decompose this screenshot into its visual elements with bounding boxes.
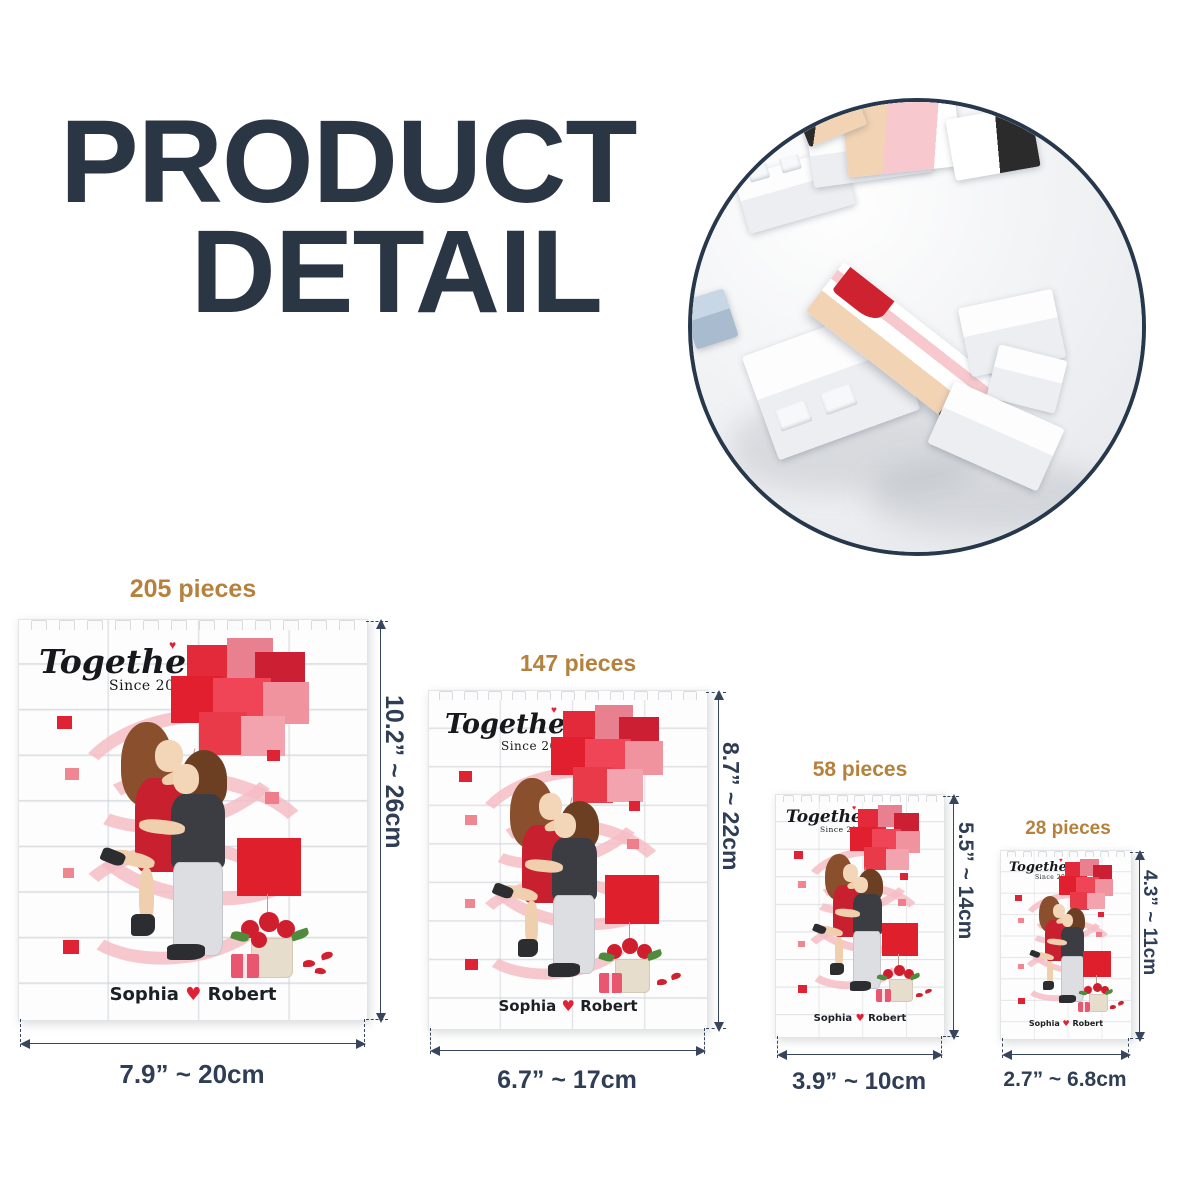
- mini-heart-icon: [627, 839, 639, 849]
- personalized-names: Sophia ♥ Robert: [429, 997, 707, 1015]
- product-panel: Together ♥ Since 2023: [1000, 850, 1132, 1040]
- mini-heart-icon: [63, 940, 79, 954]
- man-shoe: [548, 963, 580, 977]
- rose-petal: [1110, 1005, 1116, 1009]
- names-heart-icon: ♥: [856, 1013, 865, 1024]
- mini-heart-icon: [629, 801, 640, 811]
- mini-heart-icon: [267, 750, 280, 761]
- mini-heart-icon: [465, 899, 475, 908]
- mini-heart-icon: [1015, 895, 1022, 901]
- mini-heart-icon: [898, 899, 906, 906]
- rose-petal: [916, 993, 923, 997]
- size-option-147: 147 pieces Together ♥ Since 2023: [428, 650, 728, 1140]
- product-detail-page: PRODUCT DETAIL: [0, 0, 1200, 1200]
- rose: [259, 912, 279, 932]
- closeup-photo-content: [692, 102, 1142, 552]
- page-title-line-2: DETAIL: [60, 218, 680, 328]
- photo-shadow: [872, 462, 1102, 532]
- large-heart-balloon: [882, 923, 918, 956]
- personalized-names: Sophia ♥ Robert: [1001, 1019, 1131, 1028]
- gift-box: [876, 989, 891, 1002]
- man-jeans: [173, 862, 223, 956]
- mini-heart-icon: [459, 771, 472, 782]
- woman-shoe: [518, 939, 538, 957]
- width-dimension-text: 6.7” ~ 17cm: [428, 1066, 706, 1095]
- large-heart-balloon: [237, 838, 301, 896]
- flower-vase: [1089, 994, 1108, 1012]
- mini-heart-icon: [265, 792, 279, 804]
- mini-heart-icon: [1096, 932, 1102, 937]
- rose-petal: [303, 960, 315, 967]
- height-dimension-text: 5.5” ~ 14cm: [953, 822, 977, 939]
- height-dimension-text: 8.7” ~ 22cm: [717, 742, 744, 871]
- flower-vase: [889, 979, 913, 1002]
- name-right: Robert: [580, 997, 637, 1015]
- name-left: Sophia: [110, 984, 179, 1005]
- personalized-names: Sophia ♥ Robert: [19, 984, 367, 1005]
- product-detail-closeup-photo: [688, 98, 1146, 556]
- mini-heart-icon: [465, 959, 478, 970]
- pieces-count-label: 58 pieces: [765, 758, 955, 782]
- name-right: Robert: [1073, 1019, 1104, 1028]
- personalized-names: Sophia ♥ Robert: [776, 1013, 944, 1024]
- mini-heart-icon: [1018, 964, 1024, 969]
- gift-box: [599, 973, 622, 993]
- page-title: PRODUCT DETAIL: [60, 108, 680, 327]
- woman-shoe: [131, 914, 155, 936]
- couple-illustration: [115, 716, 255, 966]
- pieces-count-label: 147 pieces: [428, 650, 728, 677]
- mini-heart-icon: [65, 768, 79, 780]
- man-face: [173, 764, 199, 794]
- pieces-count-label: 205 pieces: [18, 575, 368, 604]
- rose-petal: [657, 979, 667, 985]
- mini-heart-icon: [798, 881, 806, 888]
- mini-heart-icon: [1098, 912, 1104, 917]
- heading-heart-icon: ♥: [852, 805, 856, 812]
- name-right: Robert: [208, 984, 277, 1005]
- man-face: [554, 813, 576, 838]
- mini-heart-icon: [465, 815, 477, 825]
- woman-shoe: [830, 963, 844, 975]
- heading-heart-icon: ♥: [551, 705, 557, 716]
- man-face: [854, 877, 868, 893]
- product-panel: Together ♥ Since 2023: [775, 794, 945, 1038]
- size-option-205: 205 pieces Together ♥ Since 2023: [18, 575, 368, 1135]
- height-dimension-text: 10.2” ~ 26cm: [379, 695, 408, 849]
- names-heart-icon: ♥: [1063, 1019, 1070, 1028]
- man-shoe: [1059, 995, 1076, 1003]
- page-title-line-1: PRODUCT: [60, 108, 680, 218]
- heading-heart-icon: ♥: [1059, 858, 1063, 864]
- names-heart-icon: ♥: [562, 997, 575, 1015]
- width-dimension-text: 2.7” ~ 6.8cm: [988, 1068, 1142, 1092]
- name-right: Robert: [868, 1013, 906, 1024]
- gift-box: [231, 954, 259, 978]
- large-heart-balloon: [605, 875, 659, 924]
- rose: [251, 932, 267, 948]
- mini-heart-icon: [794, 851, 803, 859]
- man-face: [1062, 914, 1073, 927]
- large-heart-balloon: [1083, 951, 1111, 977]
- width-dimension-text: 3.9” ~ 10cm: [775, 1068, 943, 1096]
- heading-heart-icon: ♥: [169, 638, 176, 652]
- pieces-count-label: 28 pieces: [992, 818, 1144, 840]
- width-dimension-text: 7.9” ~ 20cm: [18, 1059, 366, 1090]
- mini-heart-icon: [900, 873, 908, 880]
- name-left: Sophia: [814, 1013, 853, 1024]
- woman-shoe: [1043, 981, 1054, 990]
- size-option-58: 58 pieces Together ♥ Since 2023: [775, 758, 995, 1148]
- mini-heart-icon: [798, 985, 807, 993]
- name-left: Sophia: [1029, 1019, 1060, 1028]
- mini-heart-icon: [57, 716, 72, 729]
- man-shoe: [167, 944, 205, 960]
- size-option-28: 28 pieces Together ♥ Since 2023: [1000, 818, 1190, 1148]
- mini-heart-icon: [63, 868, 74, 878]
- man-shoe: [850, 981, 871, 991]
- mini-heart-icon: [1018, 998, 1025, 1004]
- name-left: Sophia: [498, 997, 556, 1015]
- rose: [622, 938, 638, 954]
- height-dimension-text: 4.3” ~ 11cm: [1138, 870, 1160, 975]
- mini-heart-icon: [798, 941, 805, 947]
- product-panel: Together ♥ Since 2023: [18, 619, 368, 1021]
- names-heart-icon: ♥: [185, 984, 201, 1005]
- product-panel: Together ♥ Since 2023: [428, 690, 708, 1030]
- mini-heart-icon: [1018, 918, 1024, 923]
- gift-box: [1078, 1002, 1090, 1012]
